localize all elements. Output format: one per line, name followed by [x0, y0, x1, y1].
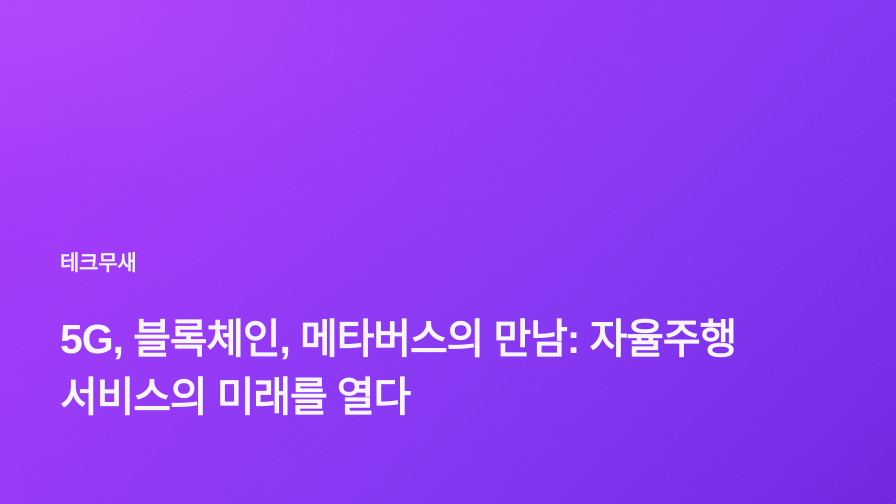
cover-kicker: 테크무새 [60, 252, 860, 276]
cover-canvas: 테크무새 5G, 블록체인, 메타버스의 만남: 자율주행 서비스의 미래를 열… [0, 0, 896, 504]
cover-text-block: 테크무새 5G, 블록체인, 메타버스의 만남: 자율주행 서비스의 미래를 열… [60, 252, 860, 426]
cover-headline: 5G, 블록체인, 메타버스의 만남: 자율주행 서비스의 미래를 열다 [60, 310, 850, 426]
